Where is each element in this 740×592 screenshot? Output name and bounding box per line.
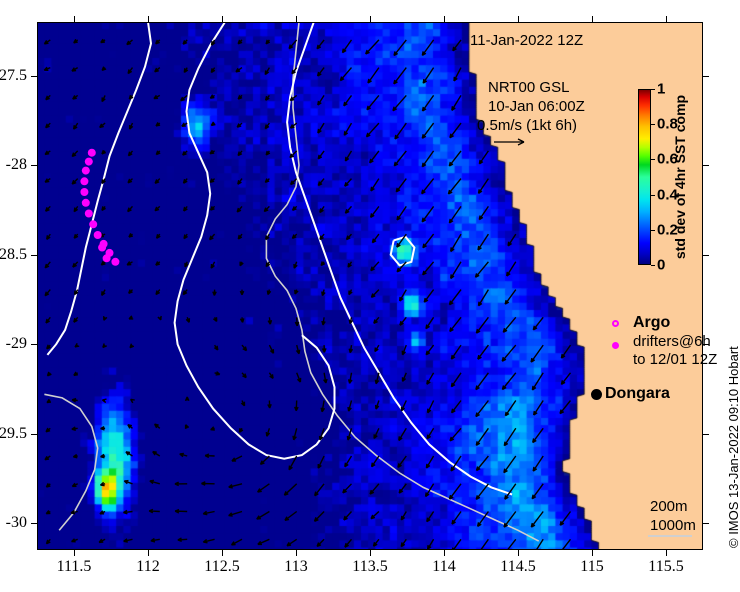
x-tick-mark-top: [666, 16, 667, 22]
current-vector: [211, 262, 214, 268]
current-vector: [321, 261, 325, 265]
contour-1000m-shelf: [287, 22, 512, 495]
current-vector: [236, 68, 242, 72]
depth-label-200m: 200m: [650, 498, 688, 515]
current-vector: [269, 373, 273, 379]
current-vector: [181, 95, 188, 100]
current-vector: [367, 95, 379, 109]
current-vector: [531, 512, 543, 528]
current-vector: [287, 539, 297, 546]
current-vector: [266, 428, 269, 436]
current-vector: [560, 512, 570, 526]
product-line-2: 0.5m/s (1kt 6h): [477, 117, 577, 134]
drifter-marker[interactable]: [88, 149, 96, 157]
current-vector: [422, 151, 433, 167]
current-vector: [343, 40, 352, 53]
current-vector: [476, 401, 489, 417]
city-marker-dongara[interactable]: [591, 389, 602, 400]
current-vector: [240, 290, 243, 295]
current-vector: [507, 262, 516, 276]
current-vector: [427, 373, 434, 385]
current-vector: [344, 95, 352, 106]
current-vector: [504, 539, 516, 550]
current-vector: [149, 509, 160, 512]
current-vector: [478, 234, 488, 250]
current-vector: [532, 373, 543, 390]
current-vector: [268, 317, 271, 324]
current-vector: [531, 345, 543, 362]
current-vector: [74, 317, 78, 322]
current-vector: [267, 290, 270, 295]
legend-argo-symbol: [612, 320, 619, 327]
current-vector: [186, 397, 189, 401]
current-vector: [123, 510, 132, 513]
current-vector: [422, 123, 433, 138]
x-tick-label: 114.5: [500, 558, 535, 576]
contour-1000m-eddy: [175, 22, 335, 459]
current-vector: [344, 123, 351, 135]
current-vector: [399, 428, 407, 440]
x-tick-mark-top: [518, 16, 519, 22]
current-vector: [318, 123, 324, 133]
current-vector: [102, 67, 106, 71]
drifter-marker[interactable]: [98, 244, 106, 252]
current-vector: [47, 399, 51, 402]
current-vector: [394, 68, 407, 84]
current-vector: [45, 456, 50, 460]
current-vector: [371, 512, 379, 519]
current-vector: [318, 68, 325, 76]
current-vector: [240, 262, 243, 266]
current-vector: [394, 151, 406, 166]
y-tick-mark-right: [703, 434, 709, 435]
current-vector: [375, 345, 379, 352]
current-vector: [450, 290, 462, 305]
y-tick-mark: [31, 165, 37, 166]
current-vector: [476, 262, 489, 278]
current-vector: [203, 511, 214, 514]
x-tick-mark-top: [444, 16, 445, 22]
current-vector: [368, 68, 379, 83]
current-vector: [229, 512, 242, 517]
current-vector: [175, 510, 187, 514]
legend-drifters-label: drifters@6h: [633, 333, 711, 350]
y-tick-label: -29.5: [0, 425, 27, 443]
x-tick-mark-top: [148, 16, 149, 22]
legend-drifter-symbol: [612, 342, 619, 349]
current-vector: [426, 456, 433, 468]
current-vector: [150, 480, 160, 484]
current-vector: [103, 344, 107, 348]
colorbar-tick: [651, 159, 655, 160]
x-tick-mark-top: [222, 16, 223, 22]
current-vector: [47, 234, 51, 239]
current-vector: [324, 373, 327, 383]
current-vector: [533, 456, 543, 471]
current-vector: [210, 95, 214, 99]
current-vector: [401, 512, 406, 520]
current-vector: [129, 316, 133, 319]
current-vector: [213, 317, 216, 321]
current-vector: [504, 512, 516, 528]
current-vector: [213, 290, 216, 296]
current-vector: [476, 428, 488, 445]
y-tick-mark-right: [703, 344, 709, 345]
current-vector: [422, 179, 434, 194]
current-vector: [205, 454, 215, 458]
contour-1000m-west: [47, 22, 151, 355]
current-vector: [45, 151, 50, 155]
current-vector: [214, 345, 218, 350]
colorbar-tick: [651, 195, 655, 196]
current-vector: [318, 179, 324, 186]
current-vector: [175, 482, 187, 485]
current-vector: [129, 151, 133, 156]
y-tick-label: -30: [6, 514, 27, 532]
current-vector: [101, 427, 106, 430]
colorbar-tick-label: 1: [657, 81, 665, 98]
drifter-marker[interactable]: [80, 177, 88, 185]
colorbar-tick: [651, 230, 655, 231]
current-vector: [448, 179, 461, 194]
current-vector: [129, 233, 133, 237]
y-tick-mark: [31, 523, 37, 524]
current-vector: [130, 344, 134, 348]
current-vector: [47, 345, 51, 349]
vector-scale-arrow: [494, 136, 530, 148]
drifter-marker[interactable]: [85, 210, 93, 218]
x-tick-label: 115.5: [648, 558, 683, 576]
x-tick-label: 112.5: [204, 558, 239, 576]
current-vector: [292, 234, 296, 238]
drifter-marker[interactable]: [111, 258, 119, 266]
current-vector: [180, 453, 188, 456]
current-vector: [48, 372, 52, 376]
current-vector: [102, 150, 106, 154]
current-vector: [428, 539, 434, 549]
current-vector: [370, 484, 379, 494]
current-vector: [476, 373, 489, 390]
colorbar-tick: [651, 265, 655, 266]
current-vector: [400, 290, 407, 301]
current-vector: [73, 95, 78, 99]
x-tick-mark: [444, 550, 445, 556]
current-vector: [156, 151, 160, 155]
current-vector: [183, 290, 187, 295]
current-vector: [394, 40, 406, 56]
current-vector: [318, 151, 324, 159]
y-tick-mark-right: [703, 165, 709, 166]
current-vector: [74, 372, 78, 376]
current-vector: [232, 539, 243, 545]
x-tick-label: 114: [432, 558, 455, 576]
y-tick-mark: [31, 255, 37, 256]
current-vector: [533, 428, 544, 442]
current-vector: [156, 122, 160, 126]
current-vector: [102, 206, 106, 210]
current-vector: [395, 123, 406, 139]
current-vector: [315, 484, 324, 496]
current-vector: [258, 484, 270, 492]
y-tick-label: -27.5: [0, 67, 27, 85]
current-vector: [155, 206, 160, 210]
current-vector: [374, 428, 379, 438]
current-vector: [104, 316, 107, 320]
current-vector: [265, 179, 269, 183]
copyright-text: © IMOS 13-Jan-2022 09:10 Hobart: [726, 346, 740, 548]
current-vector: [345, 179, 352, 187]
current-vector: [402, 401, 407, 411]
current-vector: [451, 345, 461, 359]
current-vector: [156, 261, 160, 265]
current-vector: [403, 373, 407, 382]
current-vector: [242, 345, 247, 351]
current-vector: [423, 95, 434, 111]
current-vector: [452, 539, 461, 550]
current-vector: [320, 206, 324, 212]
current-vector: [295, 290, 298, 294]
current-vector: [72, 151, 78, 157]
city-label-dongara: Dongara: [605, 385, 670, 403]
current-vector: [72, 483, 77, 486]
drifter-marker[interactable]: [85, 158, 93, 166]
current-vector: [449, 206, 461, 223]
current-vector: [402, 345, 406, 355]
current-vector: [505, 401, 515, 416]
drifter-marker[interactable]: [103, 254, 111, 262]
current-vector: [398, 456, 406, 467]
colorbar-tick: [651, 89, 655, 90]
current-vector: [47, 539, 51, 544]
current-vector: [157, 234, 161, 238]
current-vector: [46, 206, 51, 211]
current-vector: [451, 234, 461, 251]
current-vector: [46, 123, 51, 128]
current-vector: [232, 456, 242, 461]
current-vector: [154, 95, 160, 98]
x-tick-mark: [74, 550, 75, 556]
current-vector: [322, 290, 325, 296]
y-tick-label: -28.5: [0, 246, 27, 264]
current-vector: [532, 484, 543, 499]
current-vector: [397, 206, 406, 220]
current-vector: [317, 539, 324, 546]
drifter-marker[interactable]: [89, 220, 97, 228]
current-vector: [74, 123, 78, 129]
current-vector: [210, 179, 214, 183]
current-vector: [320, 234, 324, 239]
current-vector: [153, 452, 160, 456]
current-vector: [427, 428, 433, 438]
current-vector: [293, 206, 297, 210]
current-vector: [74, 206, 78, 211]
current-vector: [46, 428, 50, 432]
current-vector: [156, 290, 160, 295]
current-vector: [399, 484, 406, 493]
current-vector: [268, 401, 271, 409]
current-vector: [449, 151, 461, 166]
current-vector: [201, 482, 214, 486]
current-vector: [426, 345, 433, 355]
x-tick-mark: [148, 550, 149, 556]
current-vector: [477, 456, 489, 471]
current-vector: [238, 40, 242, 44]
current-vector: [504, 428, 516, 445]
current-vector: [184, 179, 188, 184]
current-vector: [401, 539, 406, 546]
colorbar-tick: [651, 124, 655, 125]
current-vector: [479, 206, 488, 219]
current-vector-arrows: [44, 39, 570, 550]
current-vector: [476, 484, 488, 500]
x-tick-mark: [666, 550, 667, 556]
current-vector: [266, 151, 270, 155]
drifter-marker[interactable]: [82, 199, 90, 207]
drifter-marker[interactable]: [82, 167, 90, 175]
x-tick-label: 115: [580, 558, 603, 576]
current-vector: [284, 484, 296, 495]
current-vector: [393, 95, 406, 110]
current-vector: [186, 425, 189, 429]
current-vector: [293, 428, 297, 440]
current-vector: [151, 539, 160, 542]
current-vector: [183, 151, 188, 155]
current-vector: [45, 290, 50, 296]
legend-period-label: to 12/01 12Z: [633, 351, 717, 368]
current-vector: [450, 317, 461, 331]
x-tick-mark: [518, 550, 519, 556]
contour-200m-south: [44, 394, 97, 530]
current-vector: [131, 399, 135, 403]
current-vector: [349, 290, 352, 295]
current-vector: [238, 151, 242, 156]
current-vector: [264, 206, 269, 211]
current-vector: [317, 40, 324, 49]
y-tick-mark: [31, 434, 37, 435]
current-vector: [347, 234, 352, 240]
current-vector: [185, 262, 188, 267]
current-vector: [400, 317, 406, 325]
current-vector: [296, 345, 299, 354]
current-vector: [184, 206, 188, 211]
current-vector: [72, 179, 78, 185]
colorbar-tick-label: 0.2: [657, 221, 678, 238]
current-vector: [124, 539, 133, 542]
current-vector: [129, 290, 133, 294]
current-vector: [71, 510, 78, 513]
current-vector: [371, 262, 379, 271]
y-tick-mark-right: [703, 255, 709, 256]
current-vector: [478, 539, 488, 550]
y-tick-mark: [31, 344, 37, 345]
current-vector: [450, 123, 461, 138]
current-vector: [156, 40, 160, 44]
x-tick-mark-top: [74, 16, 75, 22]
x-tick-mark: [222, 550, 223, 556]
x-tick-mark-top: [370, 16, 371, 22]
current-vector: [423, 68, 433, 84]
current-vector: [269, 345, 273, 353]
current-vector: [128, 68, 132, 74]
x-tick-mark: [370, 550, 371, 556]
current-vector: [345, 456, 352, 467]
current-vector: [423, 234, 434, 248]
current-vector: [504, 456, 516, 473]
current-vector: [396, 179, 406, 192]
current-vector: [258, 539, 270, 544]
current-vector: [502, 373, 515, 390]
current-vector: [99, 539, 105, 542]
current-vector: [101, 39, 105, 42]
current-vector: [238, 95, 242, 99]
current-vector: [450, 484, 462, 499]
current-vector: [266, 40, 270, 44]
current-vector: [45, 179, 50, 183]
current-vector: [343, 484, 352, 493]
current-vector: [102, 95, 105, 101]
current-vector: [74, 39, 78, 43]
x-tick-mark: [296, 550, 297, 556]
current-vector: [321, 401, 324, 412]
current-vector: [427, 512, 434, 522]
drifter-marker[interactable]: [80, 188, 88, 196]
current-vector: [102, 399, 106, 402]
current-vector: [502, 345, 516, 361]
current-vector: [237, 206, 242, 212]
current-vector: [229, 484, 242, 488]
current-vector: [366, 40, 379, 54]
current-vector: [560, 401, 571, 414]
current-vector: [374, 317, 379, 323]
current-vector: [424, 290, 433, 303]
current-vector: [265, 123, 269, 129]
current-vector: [376, 401, 379, 410]
y-tick-label: -29: [6, 335, 27, 353]
current-vector: [479, 151, 488, 164]
current-vector: [126, 452, 133, 456]
current-vector: [100, 511, 105, 514]
current-vector: [46, 95, 51, 99]
current-vector: [344, 512, 352, 521]
current-vector: [128, 206, 133, 211]
colorbar: [638, 89, 651, 265]
x-tick-label: 113.5: [352, 558, 387, 576]
current-vector: [450, 428, 461, 441]
current-vector: [210, 234, 215, 240]
current-vector: [371, 206, 379, 217]
current-vector: [211, 206, 215, 210]
current-vector: [294, 262, 297, 268]
current-vector: [503, 317, 516, 332]
current-vector: [371, 290, 379, 298]
drifter-marker[interactable]: [94, 231, 102, 239]
current-vector: [452, 95, 461, 110]
current-vector: [297, 373, 301, 382]
current-vector: [505, 290, 516, 305]
current-vector: [345, 206, 351, 213]
map-plot-area[interactable]: [37, 22, 703, 550]
current-vector: [124, 481, 132, 484]
current-vector: [345, 539, 352, 547]
current-vector: [210, 150, 215, 154]
current-vector: [127, 262, 132, 265]
current-vector: [155, 424, 160, 428]
colorbar-tick-label: 0: [657, 257, 665, 274]
current-vector: [178, 538, 187, 541]
current-vector: [45, 262, 50, 268]
colorbar-tick-label: 0.8: [657, 116, 678, 133]
contour-1000m-ridge: [391, 237, 415, 266]
